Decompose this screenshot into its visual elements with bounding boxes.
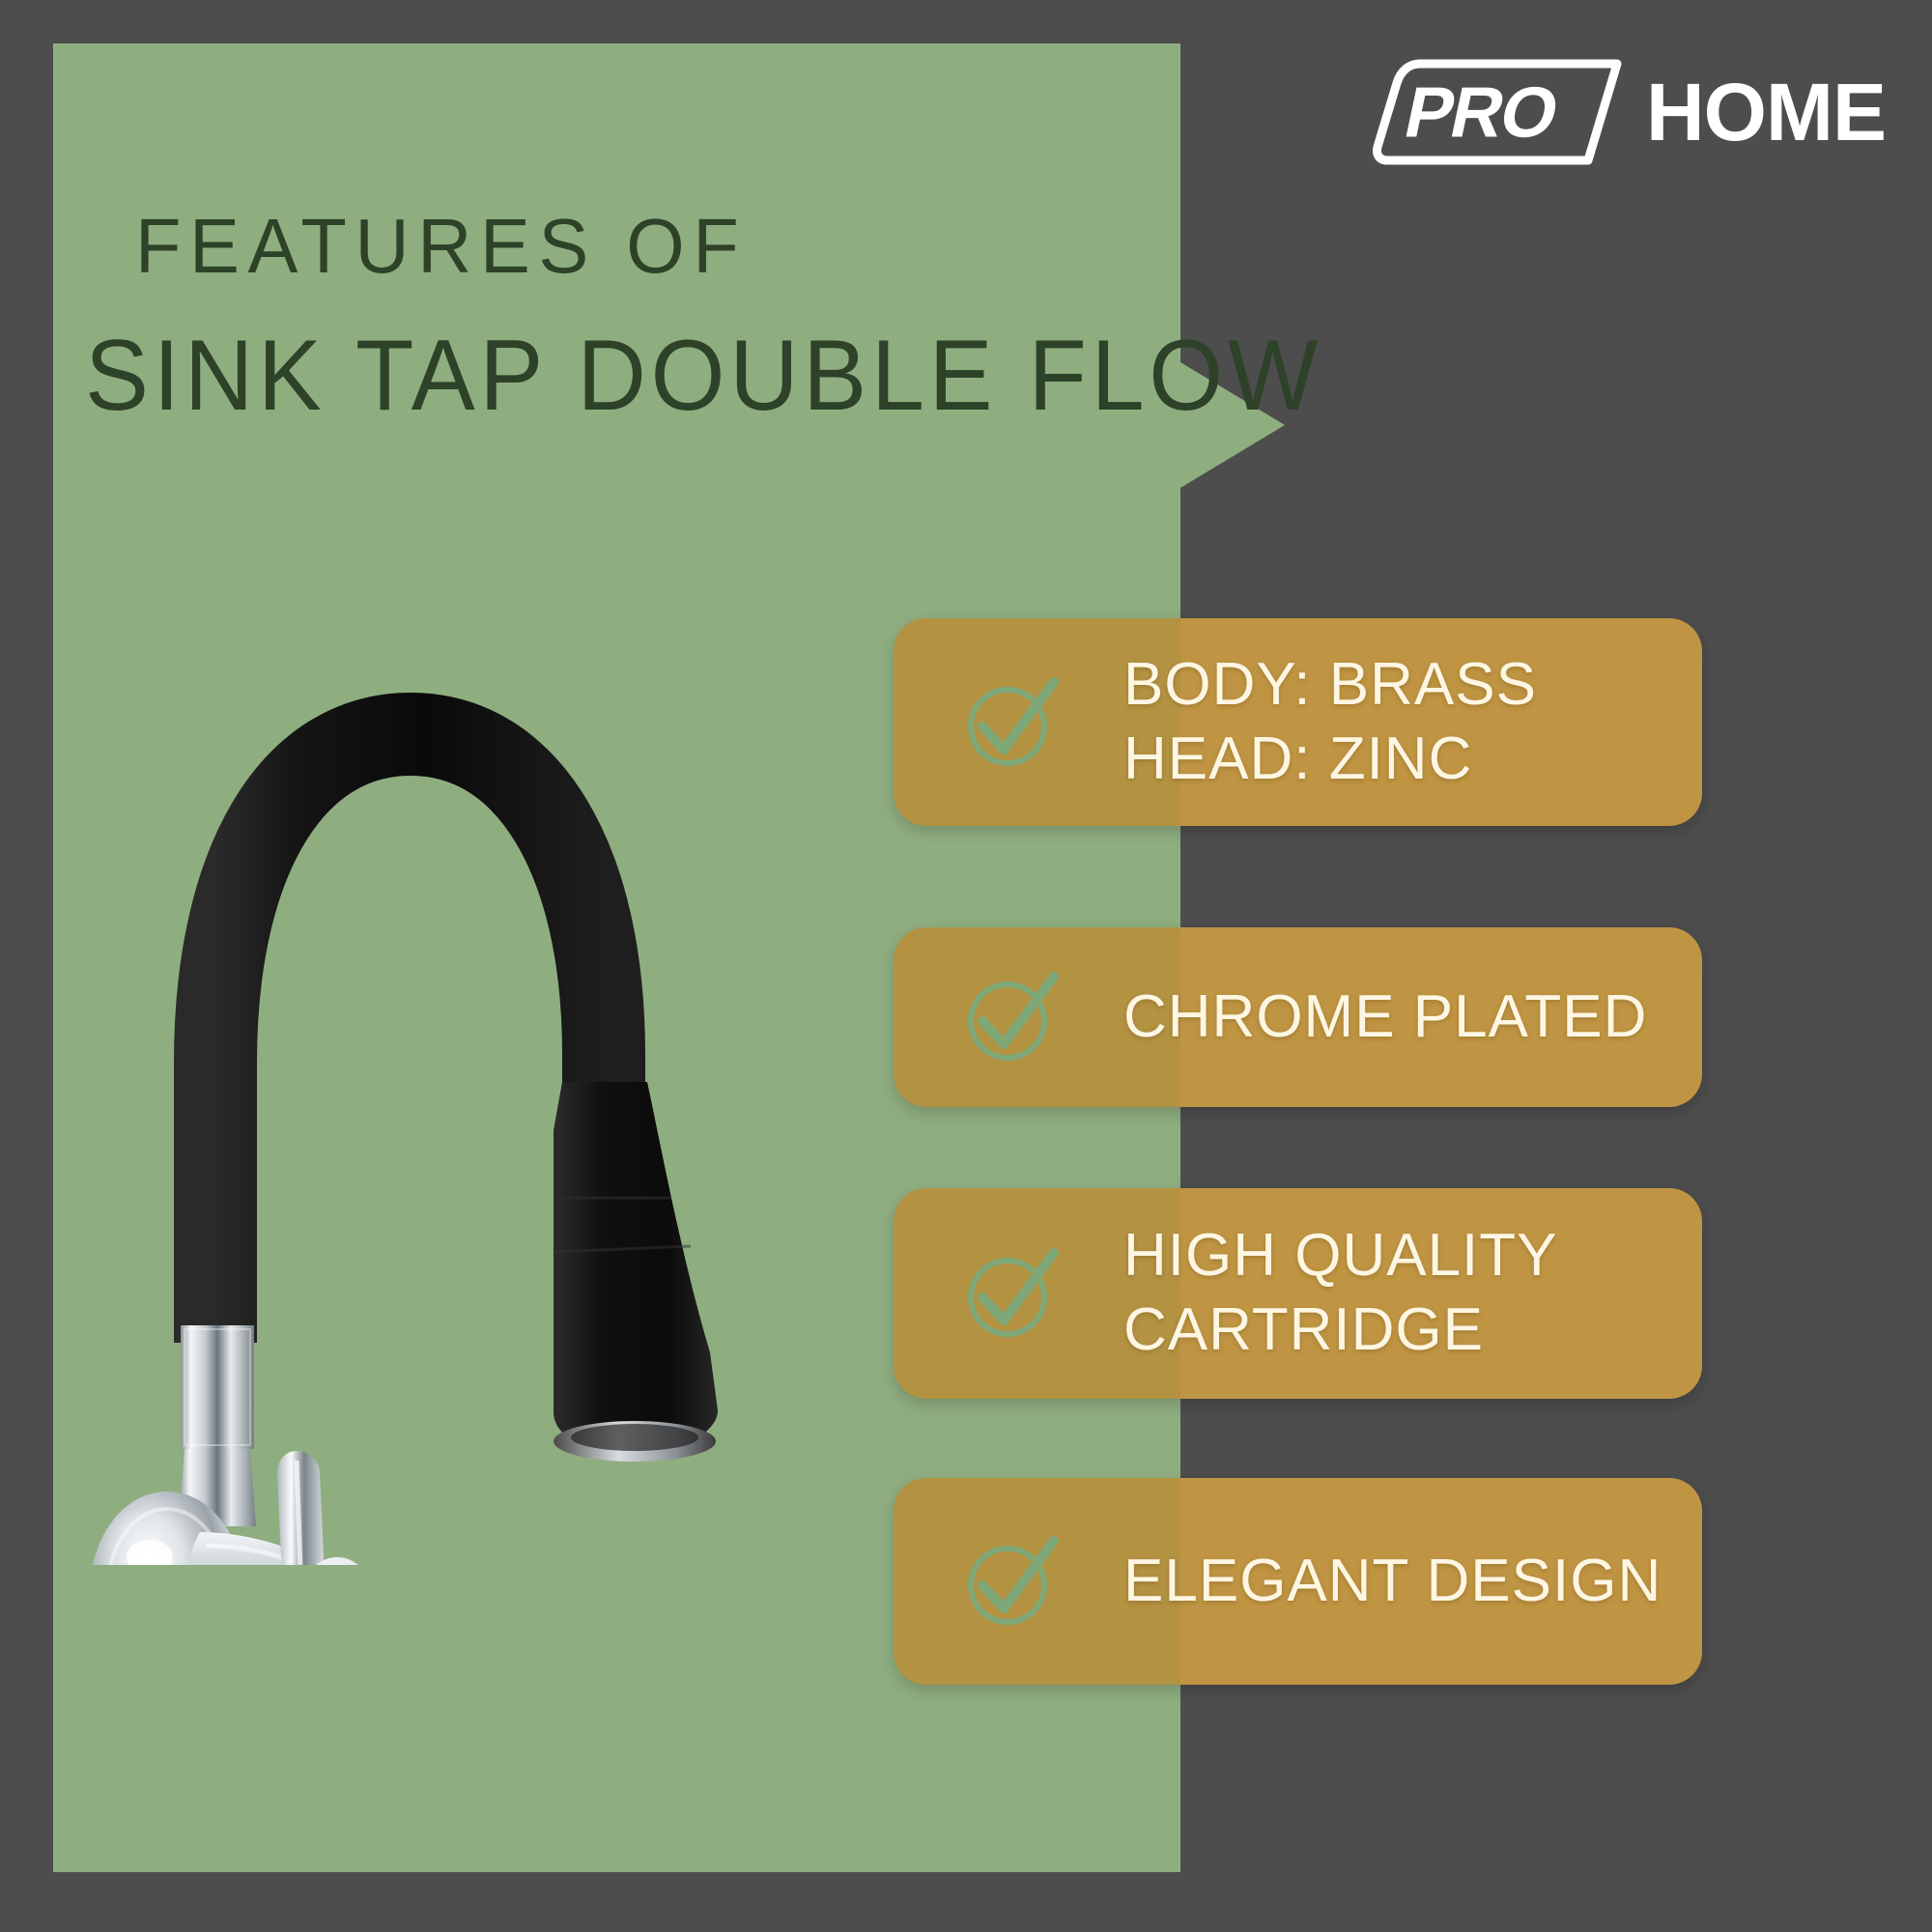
page-title: FEATURES OF SINK TAP DOUBLE FLOW: [135, 208, 1387, 426]
check-circle-icon: [959, 1531, 1060, 1632]
feature-label: CHROME PLATED: [1123, 980, 1647, 1055]
check-circle-icon: [959, 1243, 1060, 1344]
check-circle-icon: [959, 672, 1060, 773]
feature-label: ELEGANT DESIGN: [1123, 1545, 1662, 1619]
feature-badge[interactable]: HIGH QUALITY CARTRIDGE: [894, 1188, 1702, 1399]
feature-badge[interactable]: ELEGANT DESIGN: [894, 1478, 1702, 1685]
brand-logo: PRO HOME: [1368, 58, 1886, 166]
check-circle-icon: [959, 967, 1060, 1067]
title-line-2: SINK TAP DOUBLE FLOW: [85, 326, 1322, 426]
logo-home-text: HOME: [1646, 71, 1886, 153]
logo-badge-outline: PRO: [1368, 58, 1625, 166]
feature-badge[interactable]: CHROME PLATED: [894, 927, 1702, 1107]
title-line-1: FEATURES OF: [135, 208, 1350, 285]
feature-label: BODY: BRASS HEAD: ZINC: [1123, 648, 1537, 797]
product-image-sink-tap: [92, 676, 826, 1565]
feature-badge[interactable]: BODY: BRASS HEAD: ZINC: [894, 618, 1702, 826]
feature-label: HIGH QUALITY CARTRIDGE: [1123, 1219, 1558, 1368]
logo-pro-text: PRO: [1398, 71, 1564, 154]
